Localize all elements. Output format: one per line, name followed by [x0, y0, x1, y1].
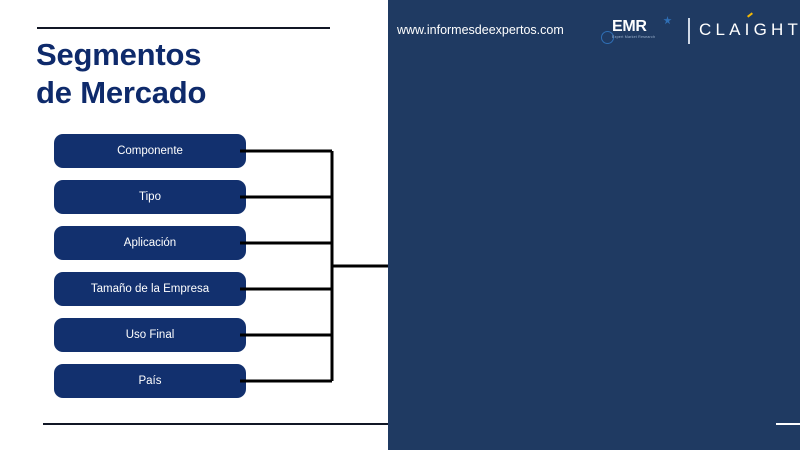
site-url[interactable]: www.informesdeexpertos.com: [397, 23, 564, 37]
segment-label: Tamaño de la Empresa: [91, 283, 209, 295]
segment-item-tipo[interactable]: Tipo: [54, 180, 246, 214]
bottom-rule-right: [776, 423, 800, 425]
claight-part-2: GHT: [754, 20, 800, 39]
market-segments-infographic: Segmentos de Mercado Componente Tipo Apl…: [0, 0, 800, 450]
segment-label: Tipo: [139, 191, 161, 203]
claight-part-1: CLA: [699, 20, 745, 39]
connector-bracket: [240, 130, 390, 405]
segment-label: País: [138, 375, 161, 387]
claight-logo[interactable]: CLAIGHT: [699, 20, 800, 40]
claight-accent-i: I: [745, 20, 754, 39]
brand-row: www.informesdeexpertos.com EMR Expert Ma…: [388, 14, 800, 46]
bottom-rule-left: [43, 423, 388, 425]
page-title: Segmentos de Mercado: [36, 36, 366, 112]
emr-logo[interactable]: EMR Expert Market Research: [599, 16, 681, 46]
segment-item-componente[interactable]: Componente: [54, 134, 246, 168]
left-panel: Segmentos de Mercado Componente Tipo Apl…: [0, 0, 388, 450]
segment-item-pais[interactable]: País: [54, 364, 246, 398]
segment-label: Componente: [117, 145, 183, 157]
title-top-rule: [37, 27, 330, 29]
right-panel: www.informesdeexpertos.com EMR Expert Ma…: [388, 0, 800, 450]
segment-label: Aplicación: [124, 237, 176, 249]
segment-list: Componente Tipo Aplicación Tamaño de la …: [54, 134, 246, 410]
page-title-line-1: Segmentos: [36, 36, 366, 74]
logo-divider: [688, 18, 690, 44]
emr-wordmark: EMR: [612, 18, 647, 36]
emr-tagline: Expert Market Research: [612, 35, 655, 39]
segment-item-aplicacion[interactable]: Aplicación: [54, 226, 246, 260]
page-title-line-2: de Mercado: [36, 74, 366, 112]
segment-label: Uso Final: [126, 329, 175, 341]
emr-spark-icon: [663, 16, 672, 25]
segment-item-tamano-de-la-empresa[interactable]: Tamaño de la Empresa: [54, 272, 246, 306]
segment-item-uso-final[interactable]: Uso Final: [54, 318, 246, 352]
